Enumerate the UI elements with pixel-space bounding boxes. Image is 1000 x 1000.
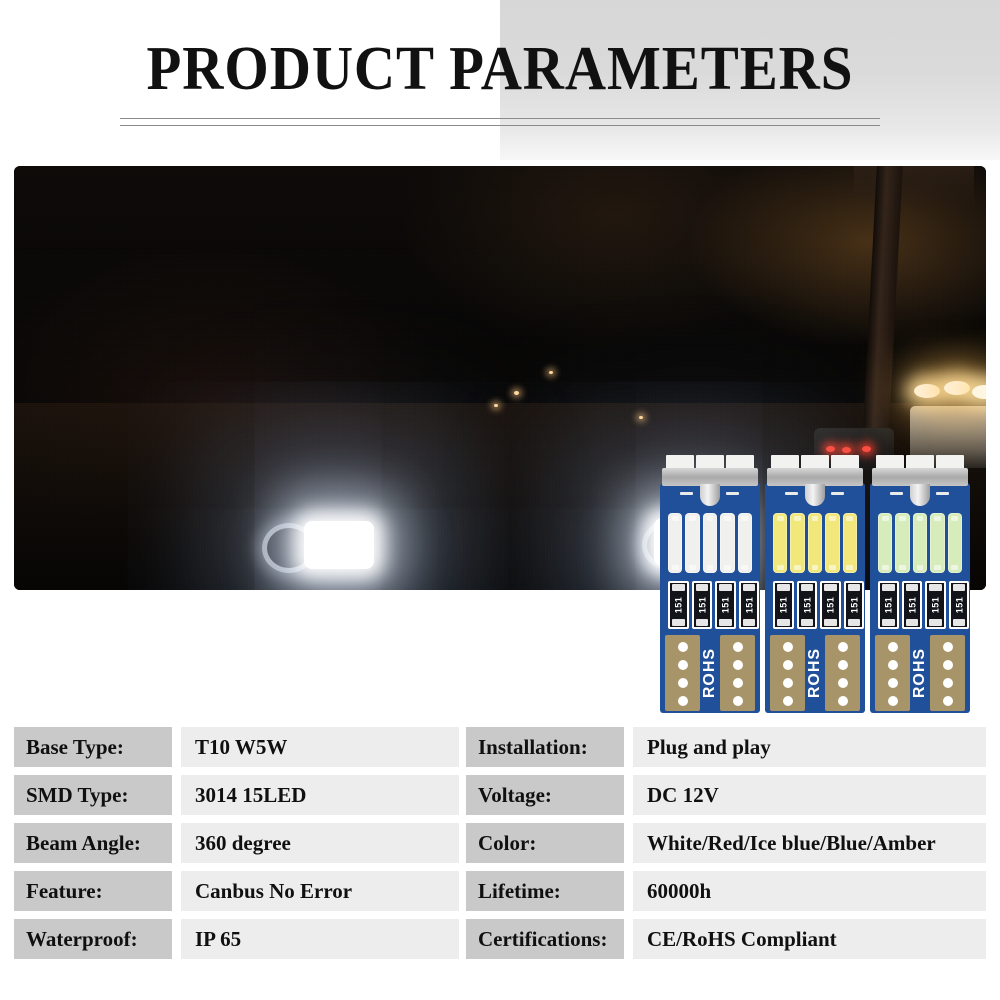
resistor: 151 xyxy=(773,581,794,629)
spec-value: 360 degree xyxy=(181,823,459,863)
bulb-dome-white xyxy=(700,484,720,506)
spec-value: DC 12V xyxy=(633,775,986,815)
spec-label: Installation: xyxy=(466,727,624,767)
divider-line-top xyxy=(120,118,880,119)
led-chip xyxy=(825,513,839,573)
bulb-dome-ice xyxy=(910,484,930,506)
spec-row: Beam Angle: 360 degree xyxy=(14,823,459,863)
spec-row: Voltage: DC 12V xyxy=(466,775,986,815)
spec-row: Waterproof: IP 65 xyxy=(14,919,459,959)
spec-label: Base Type: xyxy=(14,727,172,767)
resistor: 151 xyxy=(949,581,970,629)
led-chip xyxy=(685,513,699,573)
rohs-label: ROHS xyxy=(806,648,824,698)
spec-label: Certifications: xyxy=(466,919,624,959)
led-chip xyxy=(913,513,927,573)
led-chip xyxy=(948,513,962,573)
page-title: PRODUCT PARAMETERS xyxy=(40,38,960,100)
spec-value: 3014 15LED xyxy=(181,775,459,815)
bulb-cap-white xyxy=(666,455,754,469)
specifications-table: Base Type: T10 W5W SMD Type: 3014 15LED … xyxy=(0,727,1000,967)
led-chip xyxy=(930,513,944,573)
spec-row: Installation: Plug and play xyxy=(466,727,986,767)
spec-label: Waterproof: xyxy=(14,919,172,959)
led-chip xyxy=(773,513,787,573)
resistor: 151 xyxy=(715,581,736,629)
led-chip-row-warm xyxy=(773,513,857,573)
resistor: 151 xyxy=(820,581,841,629)
spec-row: Color: White/Red/Ice blue/Blue/Amber xyxy=(466,823,986,863)
led-chip xyxy=(843,513,857,573)
rohs-label: ROHS xyxy=(911,648,929,698)
spec-label: Voltage: xyxy=(466,775,624,815)
led-chip xyxy=(878,513,892,573)
spec-value: 60000h xyxy=(633,871,986,911)
solder-mark-left-ice xyxy=(890,492,903,495)
spec-row: Base Type: T10 W5W xyxy=(14,727,459,767)
led-bulb-group: 151 151 151 151 ROHS xyxy=(660,455,990,715)
led-chip xyxy=(738,513,752,573)
divider-line-bottom xyxy=(120,125,880,126)
contact-pad-right xyxy=(825,635,860,711)
title-divider xyxy=(120,118,880,130)
solder-mark-left-warm xyxy=(785,492,798,495)
bulb-cap-ice xyxy=(876,455,964,469)
contact-pad-row-white: ROHS xyxy=(665,635,755,711)
resistor-row-ice: 151 151 151 151 xyxy=(878,581,962,629)
led-chip xyxy=(790,513,804,573)
resistor: 151 xyxy=(878,581,899,629)
led-chip xyxy=(808,513,822,573)
product-parameters-page: PRODUCT PARAMETERS xyxy=(0,0,1000,1000)
resistor: 151 xyxy=(668,581,689,629)
spec-label: Beam Angle: xyxy=(14,823,172,863)
contact-pad-right xyxy=(930,635,965,711)
resistor: 151 xyxy=(902,581,923,629)
solder-mark-right-ice xyxy=(936,492,949,495)
led-chip-row-ice xyxy=(878,513,962,573)
spec-value: IP 65 xyxy=(181,919,459,959)
spec-value: Plug and play xyxy=(633,727,986,767)
spec-column-right: Installation: Plug and play Voltage: DC … xyxy=(466,727,986,967)
solder-mark-right-warm xyxy=(831,492,844,495)
spec-label: SMD Type: xyxy=(14,775,172,815)
resistor: 151 xyxy=(739,581,760,629)
spec-row: Lifetime: 60000h xyxy=(466,871,986,911)
resistor-row-warm: 151 151 151 151 xyxy=(773,581,857,629)
led-chip xyxy=(720,513,734,573)
spec-row: SMD Type: 3014 15LED xyxy=(14,775,459,815)
led-bulb-white: 151 151 151 151 ROHS xyxy=(660,455,760,713)
spec-column-left: Base Type: T10 W5W SMD Type: 3014 15LED … xyxy=(14,727,459,967)
resistor: 151 xyxy=(844,581,865,629)
spec-label: Color: xyxy=(466,823,624,863)
bulb-dome-warm xyxy=(805,484,825,506)
resistor: 151 xyxy=(692,581,713,629)
led-bulb-ice: 151 151 151 151 ROHS xyxy=(870,455,970,713)
led-bulb-warm: 151 151 151 151 ROHS xyxy=(765,455,865,713)
resistor-row-white: 151 151 151 151 xyxy=(668,581,752,629)
contact-pad-row-warm: ROHS xyxy=(770,635,860,711)
spec-value: CE/RoHS Compliant xyxy=(633,919,986,959)
contact-pad-row-ice: ROHS xyxy=(875,635,965,711)
solder-mark-left-white xyxy=(680,492,693,495)
led-chip-row-white xyxy=(668,513,752,573)
rohs-label: ROHS xyxy=(701,648,719,698)
led-chip xyxy=(668,513,682,573)
spec-value: T10 W5W xyxy=(181,727,459,767)
spec-value: White/Red/Ice blue/Blue/Amber xyxy=(633,823,986,863)
led-chip xyxy=(703,513,717,573)
page-header: PRODUCT PARAMETERS xyxy=(0,0,1000,160)
led-chip xyxy=(895,513,909,573)
spec-label: Feature: xyxy=(14,871,172,911)
bulb-cap-warm xyxy=(771,455,859,469)
contact-pad-left xyxy=(665,635,700,711)
spec-value: Canbus No Error xyxy=(181,871,459,911)
spec-row: Feature: Canbus No Error xyxy=(14,871,459,911)
spec-label: Lifetime: xyxy=(466,871,624,911)
resistor: 151 xyxy=(797,581,818,629)
spec-row: Certifications: CE/RoHS Compliant xyxy=(466,919,986,959)
resistor: 151 xyxy=(925,581,946,629)
contact-pad-left xyxy=(770,635,805,711)
solder-mark-right-white xyxy=(726,492,739,495)
contact-pad-left xyxy=(875,635,910,711)
contact-pad-right xyxy=(720,635,755,711)
